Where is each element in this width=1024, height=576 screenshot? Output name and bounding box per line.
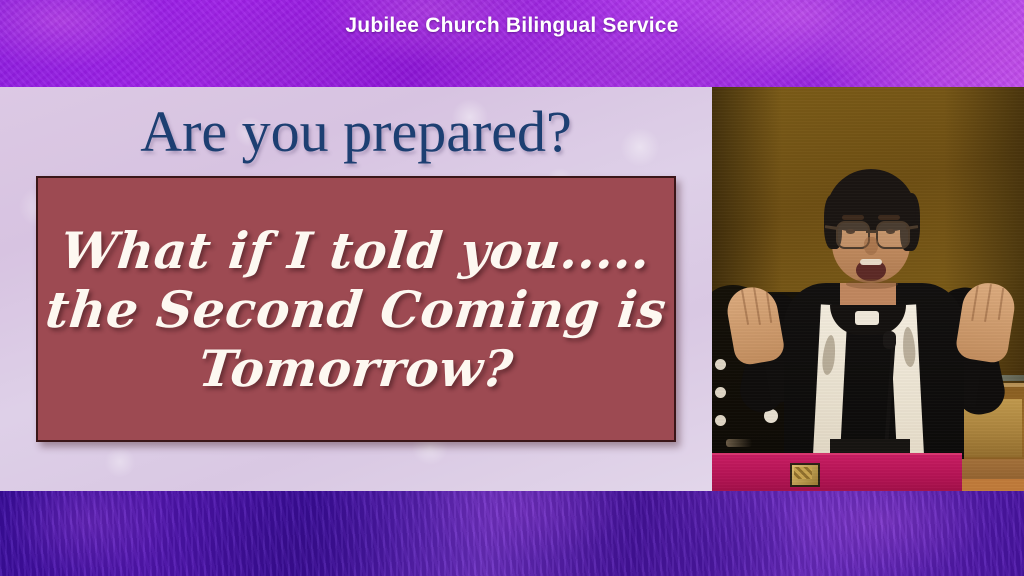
speaker-nose: [864, 237, 878, 255]
speaker-teeth: [860, 259, 882, 265]
collar-tab: [855, 311, 879, 325]
console-light-2: [715, 387, 726, 398]
bottom-banner: [0, 491, 1024, 576]
speaker-brow-right: [878, 215, 900, 220]
console-marking: [726, 439, 752, 447]
slide-heading: Are you prepared?: [0, 102, 712, 163]
quote-line-1: What if I told you.....: [58, 221, 653, 280]
top-banner: Jubilee Church Bilingual Service: [0, 0, 1024, 87]
service-title: Jubilee Church Bilingual Service: [0, 14, 1024, 38]
console-light-1: [715, 359, 726, 370]
microphone-head: [883, 331, 896, 349]
speaker-video-feed: [712, 87, 1024, 491]
pulpit-cloth: [712, 455, 962, 491]
speaker-brow-left: [842, 215, 864, 220]
stage-floor-edge: [962, 479, 1024, 491]
livestream-frame: Jubilee Church Bilingual Service Are you…: [0, 0, 1024, 576]
banner-texture-bottom: [0, 491, 1024, 576]
quote-line-3: Tomorrow?: [196, 339, 516, 398]
quote-line-2: the Second Coming is: [43, 280, 669, 339]
speaker-chin-shadow: [846, 279, 898, 289]
presentation-slide: Are you prepared? What if I told you....…: [0, 87, 712, 491]
pulpit-emblem-inner: [794, 467, 812, 479]
glasses-lens-right: [876, 221, 910, 249]
console-light-3: [715, 415, 726, 426]
quote-box: What if I told you..... the Second Comin…: [36, 176, 676, 442]
glasses-bridge: [866, 230, 876, 233]
